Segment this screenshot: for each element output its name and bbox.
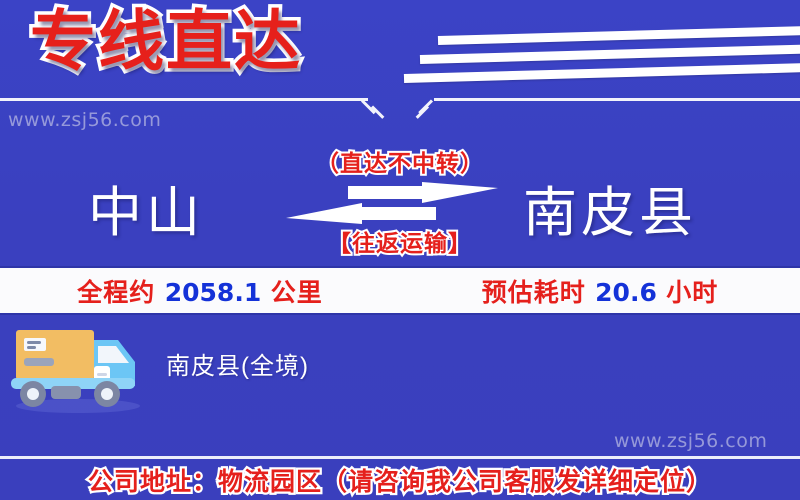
header-divider-right <box>434 98 800 101</box>
diagonal-stripe-2 <box>420 44 800 64</box>
delivery-truck-icon <box>6 316 156 414</box>
route-section: （直达不中转） 中山 南皮县 【往返运输】 <box>0 150 800 260</box>
bidirectional-arrow-icon <box>286 182 498 224</box>
watermark-top: www.zsj56.com <box>8 109 161 131</box>
diagonal-stripe-3 <box>404 63 800 83</box>
watermark-bottom: www.zsj56.com <box>614 430 767 452</box>
duration-label-prefix: 预估耗时 <box>482 279 586 307</box>
distance-value: 2058.1 <box>165 278 261 307</box>
header-divider-left <box>0 98 368 101</box>
logistics-banner: 专线直达 www.zsj56.com www.zsj56.com （直达不中转）… <box>0 0 800 500</box>
duration-stat: 预估耗时 20.6 小时 <box>400 273 800 309</box>
distance-stat: 全程约 2058.1 公里 <box>0 273 400 309</box>
distance-unit: 公里 <box>271 279 323 307</box>
duration-unit: 小时 <box>666 279 718 307</box>
roundtrip-label: 【往返运输】 <box>0 224 800 258</box>
duration-value: 20.6 <box>595 278 657 307</box>
footer-divider <box>0 456 800 459</box>
company-address: 公司地址：物流园区（请咨询我公司客服发详细定位） <box>0 462 800 498</box>
distance-label-prefix: 全程约 <box>77 279 155 307</box>
stats-bar: 全程约 2058.1 公里 预估耗时 20.6 小时 <box>0 266 800 315</box>
banner-title: 专线直达 <box>30 4 302 80</box>
coverage-area-label: 南皮县(全境) <box>166 346 309 381</box>
diagonal-stripe-1 <box>438 26 800 45</box>
